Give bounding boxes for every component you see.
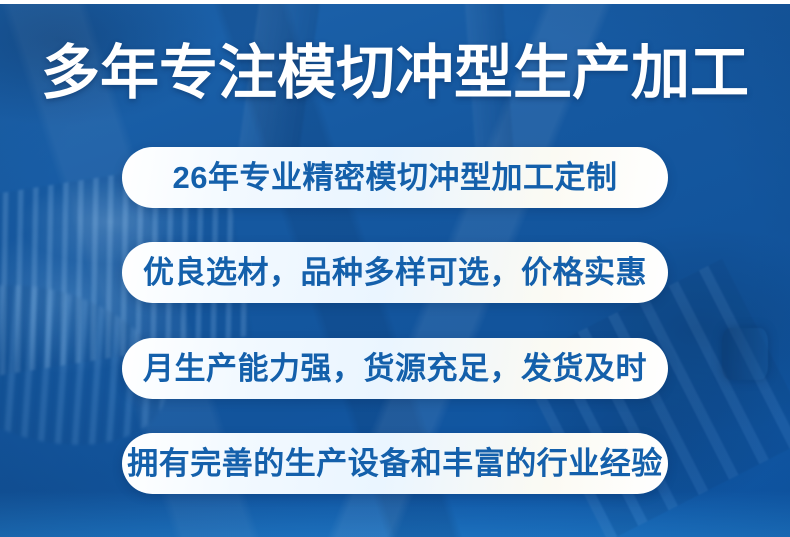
promo-banner: 多年专注模切冲型生产加工 26年专业精密模切冲型加工定制 优良选材，品种多样可选… — [0, 0, 790, 537]
banner-headline: 多年专注模切冲型生产加工 — [0, 38, 790, 108]
feature-pill-2: 优良选材，品种多样可选，价格实惠 — [122, 242, 668, 303]
feature-pill-4: 拥有完善的生产设备和丰富的行业经验 — [122, 433, 668, 494]
feature-pill-1: 26年专业精密模切冲型加工定制 — [122, 147, 668, 208]
top-white-strip — [0, 0, 790, 4]
feature-pill-1-label: 26年专业精密模切冲型加工定制 — [173, 161, 618, 195]
feature-pill-2-label: 优良选材，品种多样可选，价格实惠 — [143, 256, 647, 290]
feature-pill-3-label: 月生产能力强，货源充足，发货及时 — [143, 352, 647, 386]
feature-pill-3: 月生产能力强，货源充足，发货及时 — [122, 338, 668, 399]
feature-pill-4-label: 拥有完善的生产设备和丰富的行业经验 — [127, 447, 663, 481]
